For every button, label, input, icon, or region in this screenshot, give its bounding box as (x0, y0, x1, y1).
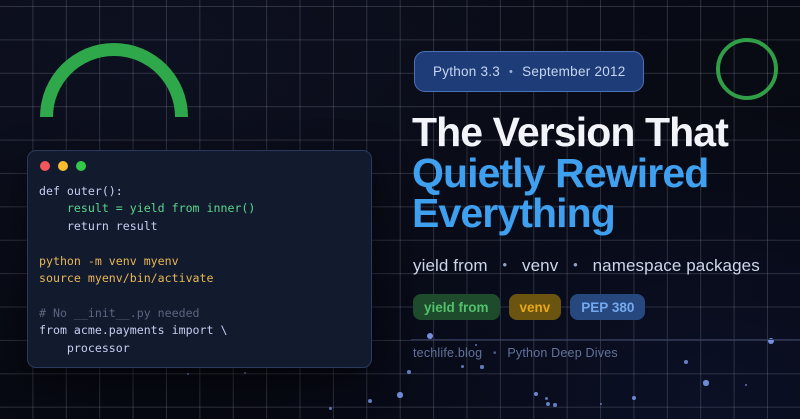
particle-dot (244, 372, 247, 375)
code-line: processor (39, 340, 363, 357)
headline-line-3: Everything (412, 193, 800, 234)
tag-pill[interactable]: yield from (413, 294, 500, 320)
feature-subtitle: yield from • venv • namespace packages (413, 256, 800, 276)
green-arc-decoration (40, 43, 188, 117)
code-token: python -m venv myenv (39, 254, 179, 268)
tag-pill[interactable]: venv (509, 294, 562, 320)
code-line (39, 287, 363, 304)
close-dot-icon[interactable] (40, 161, 50, 171)
content-column: Python 3.3 • September 2012 The Version … (405, 0, 800, 419)
social-card: def outer(): result = yield from inner()… (0, 0, 800, 419)
particle-dot (187, 373, 190, 376)
code-token: def outer(): (39, 184, 123, 198)
code-token: from acme.payments import \ (39, 323, 227, 337)
footer-series: Python Deep Dives (507, 346, 617, 360)
particle-dot (329, 407, 332, 410)
code-block: def outer(): result = yield from inner()… (39, 183, 363, 357)
footer: techlife.blog • Python Deep Dives (413, 346, 618, 360)
page-title: The Version That Quietly Rewired Everyth… (412, 112, 800, 234)
tag-pill[interactable]: PEP 380 (570, 294, 645, 320)
badge-separator: • (500, 66, 522, 78)
subtitle-item-2: venv (522, 256, 558, 275)
footer-separator: • (486, 348, 504, 359)
window-traffic-lights (40, 161, 86, 171)
code-token (39, 288, 46, 302)
code-line: # No __init__.py needed (39, 305, 363, 322)
code-line: def outer(): (39, 183, 363, 200)
code-line: return result (39, 218, 363, 235)
headline-line-1: The Version That (412, 112, 800, 153)
subtitle-item-1: yield from (413, 256, 488, 275)
code-line: python -m venv myenv (39, 253, 363, 270)
subtitle-item-3: namespace packages (593, 256, 760, 275)
particle-dot (397, 392, 402, 397)
badge-date: September 2012 (522, 64, 625, 79)
tag-list: yield fromvenvPEP 380 (413, 294, 645, 320)
code-line (39, 235, 363, 252)
code-token: # No __init__.py needed (39, 306, 200, 320)
subtitle-separator-2: • (563, 257, 588, 272)
footer-divider (411, 339, 800, 340)
code-token: result = yield from inner() (39, 201, 255, 215)
code-line: from acme.payments import \ (39, 322, 363, 339)
code-token: return result (39, 219, 158, 233)
minimize-dot-icon[interactable] (58, 161, 68, 171)
code-line: result = yield from inner() (39, 200, 363, 217)
version-badge: Python 3.3 • September 2012 (414, 51, 644, 92)
maximize-dot-icon[interactable] (76, 161, 86, 171)
code-window: def outer(): result = yield from inner()… (27, 150, 372, 368)
subtitle-separator-1: • (493, 257, 518, 272)
particle-dot (368, 399, 372, 403)
code-token: source myenv/bin/activate (39, 271, 214, 285)
footer-site: techlife.blog (413, 346, 482, 360)
code-token: processor (39, 341, 130, 355)
code-line: source myenv/bin/activate (39, 270, 363, 287)
badge-version: Python 3.3 (433, 64, 500, 79)
headline-line-2: Quietly Rewired (412, 153, 800, 194)
code-token (39, 236, 46, 250)
